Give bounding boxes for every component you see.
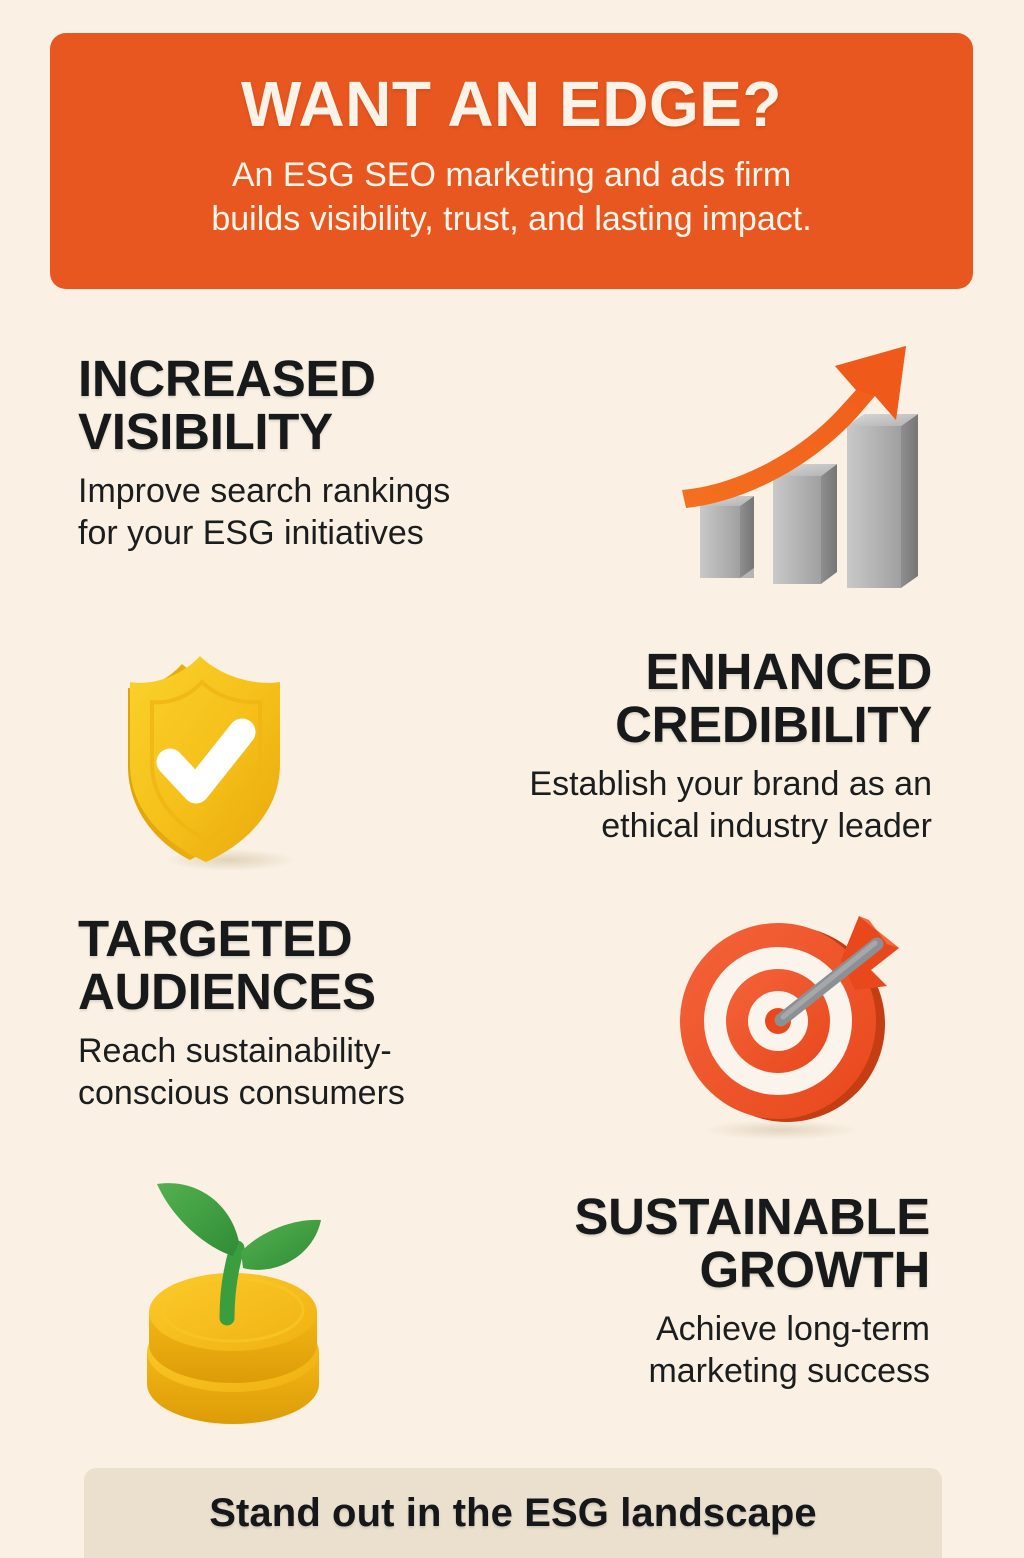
feature-description-line-2: marketing success xyxy=(450,1350,930,1392)
feature-title-line-2: VISIBILITY xyxy=(78,405,450,458)
feature-description: Improve search rankings for your ESG ini… xyxy=(78,470,450,554)
feature-text-block: SUSTAINABLE GROWTH Achieve long-term mar… xyxy=(450,1190,930,1392)
feature-description-line-1: Achieve long-term xyxy=(450,1308,930,1350)
feature-title: INCREASED VISIBILITY xyxy=(78,352,450,458)
feature-title-line-1: TARGETED xyxy=(78,912,405,965)
feature-description: Reach sustainability- conscious consumer… xyxy=(78,1030,405,1114)
feature-sustainable-growth: SUSTAINABLE GROWTH Achieve long-term mar… xyxy=(450,1190,930,1392)
feature-title-line-1: ENHANCED xyxy=(440,645,932,698)
feature-description-line-1: Establish your brand as an xyxy=(440,763,932,805)
feature-enhanced-credibility: ENHANCED CREDIBILITY Establish your bran… xyxy=(440,645,932,847)
target-dart-icon xyxy=(663,908,917,1140)
feature-title-line-2: CREDIBILITY xyxy=(440,698,932,751)
header-banner: WANT AN EDGE? An ESG SEO marketing and a… xyxy=(50,33,973,289)
feature-description-line-2: ethical industry leader xyxy=(440,805,932,847)
feature-description-line-2: for your ESG initiatives xyxy=(78,512,450,554)
feature-increased-visibility: INCREASED VISIBILITY Improve search rank… xyxy=(78,352,548,554)
footer-banner: Stand out in the ESG landscape xyxy=(84,1468,942,1558)
page-subtitle: An ESG SEO marketing and ads firm builds… xyxy=(211,154,811,241)
seedling-coins-icon xyxy=(127,1172,345,1422)
feature-targeted-audiences: TARGETED AUDIENCES Reach sustainability-… xyxy=(78,912,518,1114)
footer-tagline: Stand out in the ESG landscape xyxy=(209,1491,817,1536)
feature-description-line-2: conscious consumers xyxy=(78,1072,405,1114)
feature-title: ENHANCED CREDIBILITY xyxy=(440,645,932,751)
shield-check-icon xyxy=(108,632,344,872)
feature-description-line-1: Improve search rankings xyxy=(78,470,450,512)
feature-title: TARGETED AUDIENCES xyxy=(78,912,405,1018)
feature-title-line-2: GROWTH xyxy=(450,1243,930,1296)
feature-description: Achieve long-term marketing success xyxy=(450,1308,930,1392)
growth-bar-chart-icon xyxy=(660,330,935,595)
page-title: WANT AN EDGE? xyxy=(241,72,782,136)
feature-title: SUSTAINABLE GROWTH xyxy=(450,1190,930,1296)
feature-text-block: TARGETED AUDIENCES Reach sustainability-… xyxy=(78,912,405,1114)
feature-title-line-1: INCREASED xyxy=(78,352,450,405)
feature-text-block: ENHANCED CREDIBILITY Establish your bran… xyxy=(440,645,932,847)
feature-description: Establish your brand as an ethical indus… xyxy=(440,763,932,847)
page-subtitle-line-2: builds visibility, trust, and lasting im… xyxy=(211,198,811,242)
feature-title-line-1: SUSTAINABLE xyxy=(450,1190,930,1243)
feature-title-line-2: AUDIENCES xyxy=(78,965,405,1018)
page-subtitle-line-1: An ESG SEO marketing and ads firm xyxy=(211,154,811,198)
feature-description-line-1: Reach sustainability- xyxy=(78,1030,405,1072)
feature-text-block: INCREASED VISIBILITY Improve search rank… xyxy=(78,352,450,554)
